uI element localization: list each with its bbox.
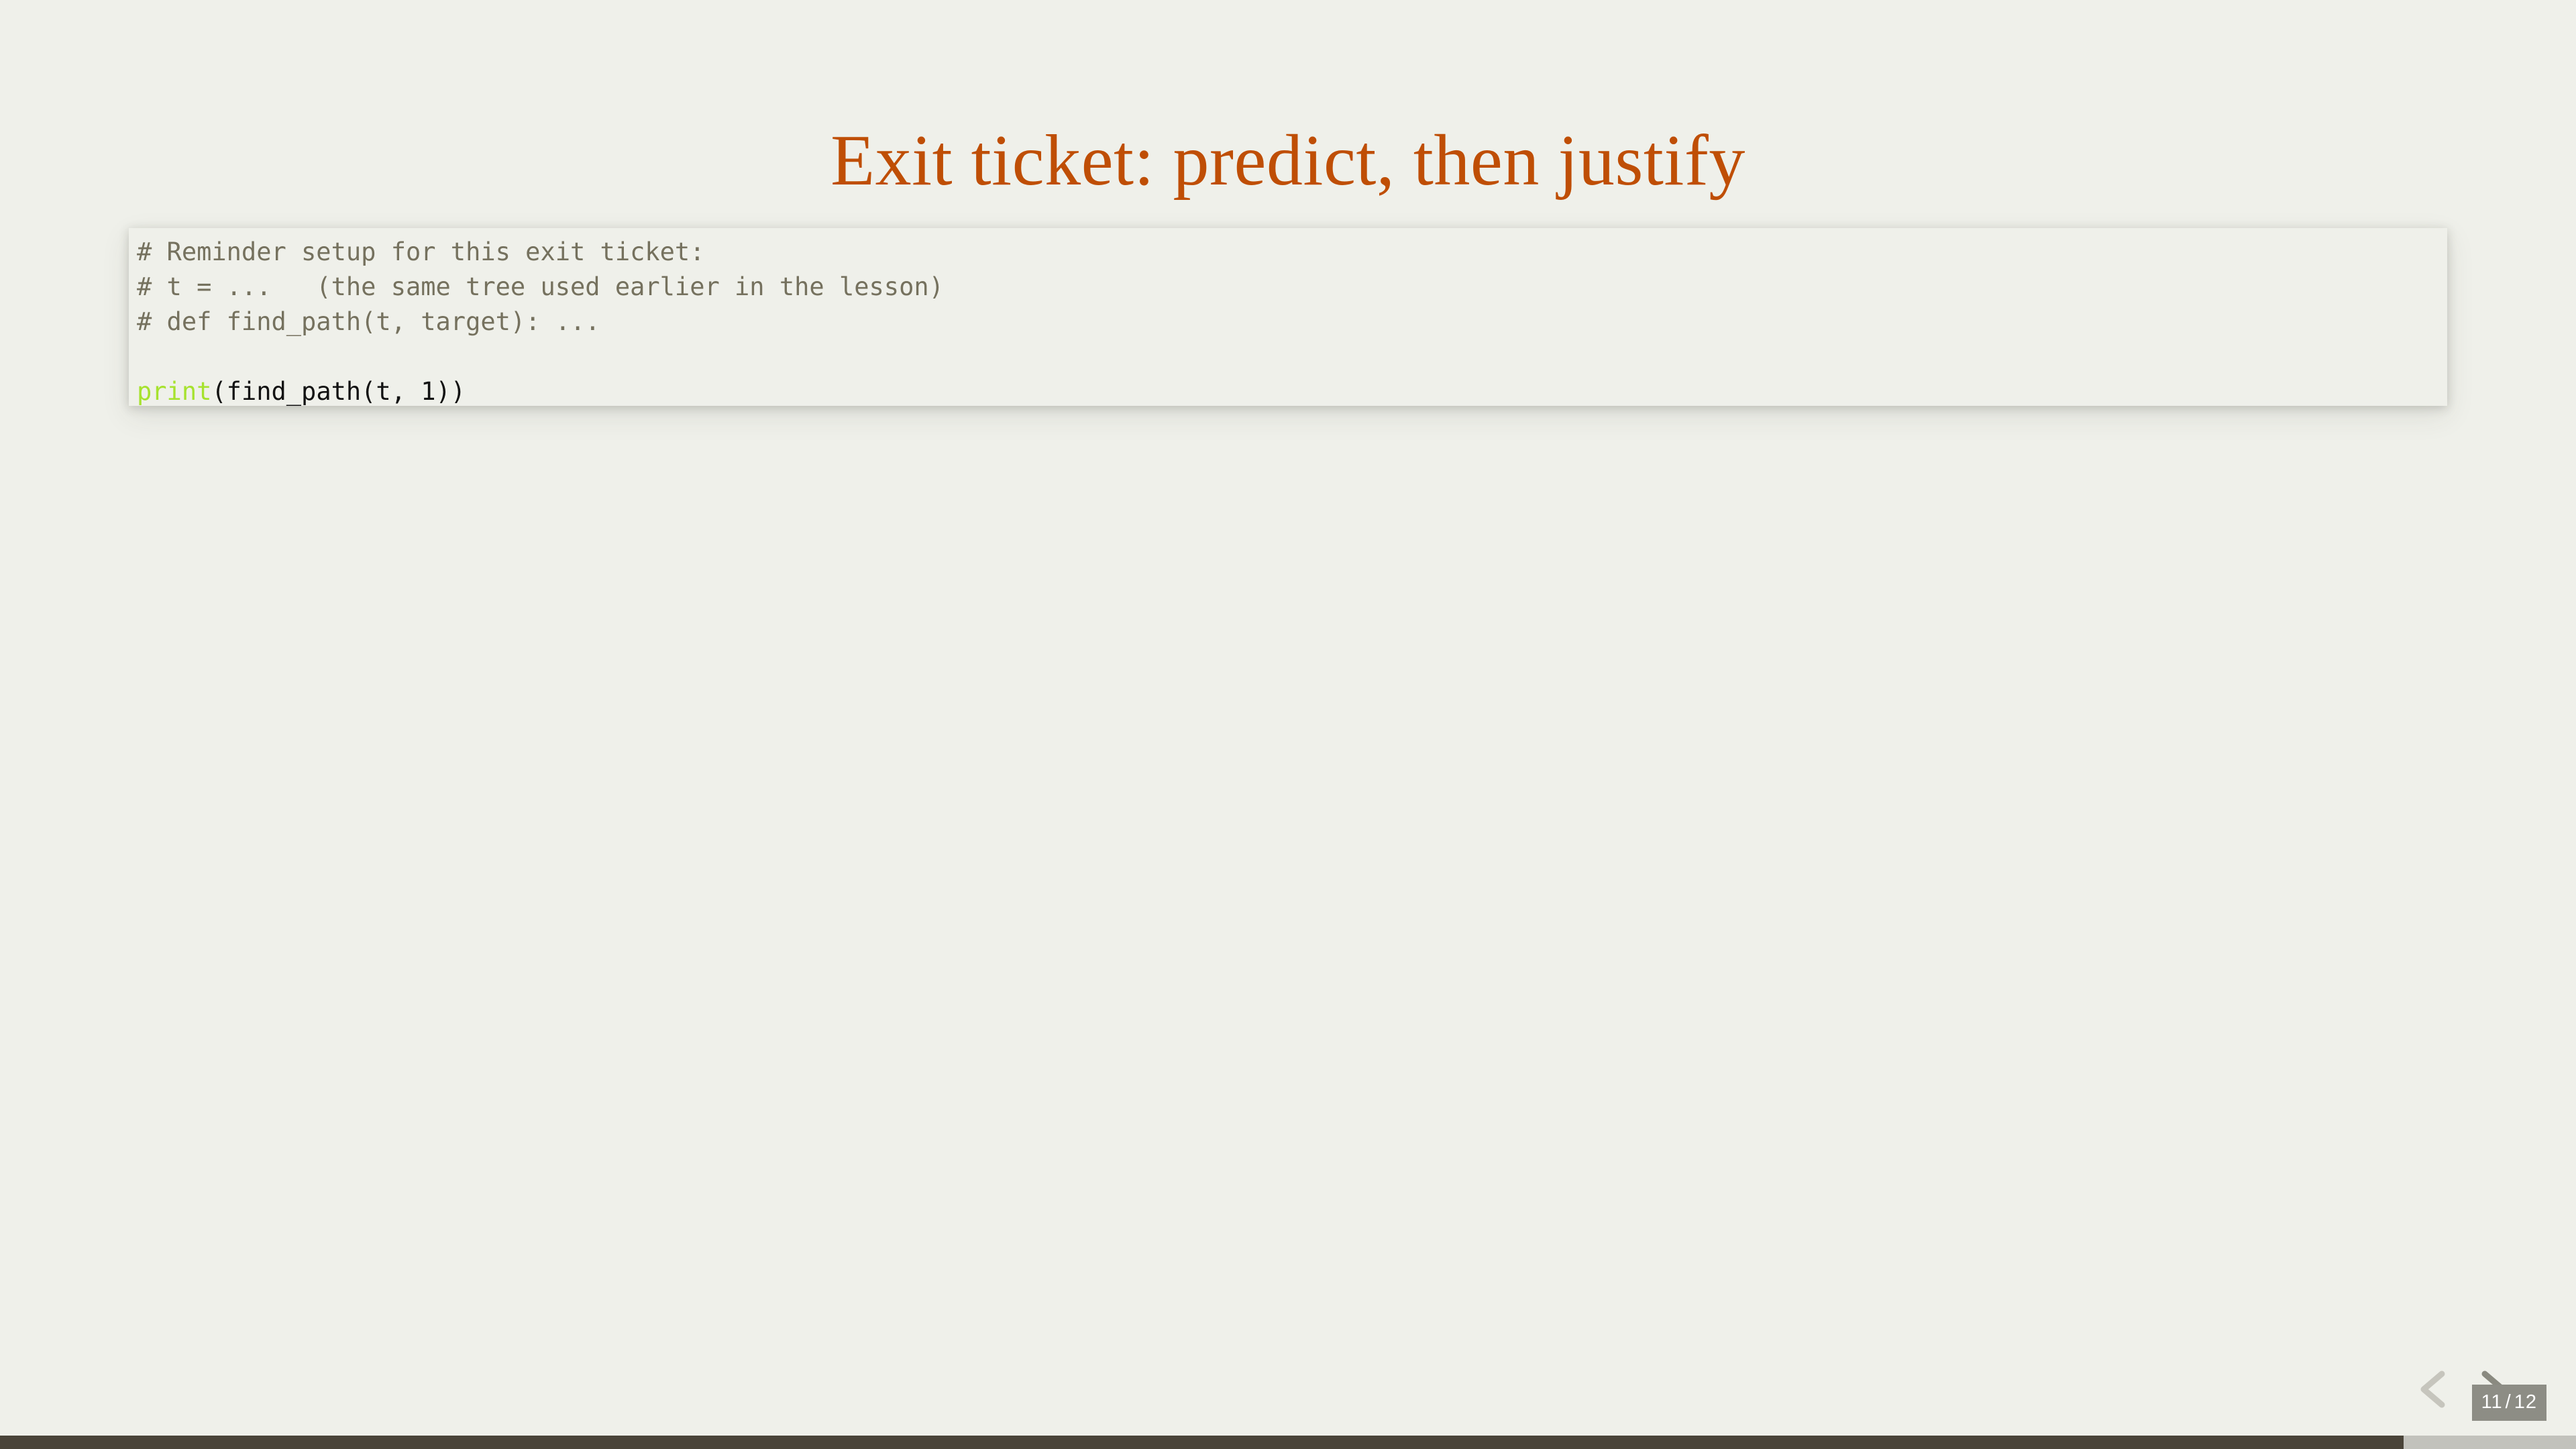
code-block: # Reminder setup for this exit ticket: #… — [129, 228, 2447, 406]
presentation-slide: Exit ticket: predict, then justify # Rem… — [0, 0, 2576, 1449]
slide-number-current: 11 — [2481, 1391, 2503, 1413]
slide-progress-fill — [0, 1436, 2404, 1449]
chevron-left-icon — [2406, 1410, 2463, 1420]
code-content: # Reminder setup for this exit ticket: #… — [129, 228, 2447, 406]
code-token-comment: # def find_path(t, target): ... — [137, 307, 600, 336]
code-token-comment: # Reminder setup for this exit ticket: — [137, 237, 704, 266]
slide-progress-bar[interactable] — [0, 1436, 2576, 1449]
page-title: Exit ticket: predict, then justify — [0, 121, 2576, 202]
code-token-plain: (find_path(t, 1)) — [211, 377, 466, 406]
code-token-comment: # t = ... (the same tree used earlier in… — [137, 272, 944, 301]
slide-number-total: 12 — [2514, 1391, 2537, 1413]
code-token-builtin: print — [137, 377, 211, 406]
previous-slide-button[interactable] — [2406, 1360, 2463, 1418]
slide-navigation-controls: 11/12 — [2406, 1355, 2546, 1421]
slide-number-separator: / — [2503, 1391, 2514, 1413]
slide-number-badge[interactable]: 11/12 — [2472, 1385, 2546, 1421]
